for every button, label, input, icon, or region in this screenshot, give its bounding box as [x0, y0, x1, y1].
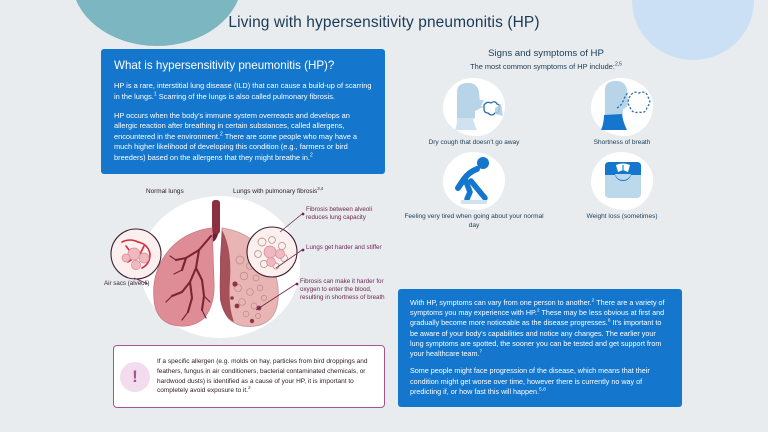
- symptoms-grid: Dry cough that doesn't go away Shortness…: [404, 78, 704, 230]
- intro-panel-heading: What is hypersensitivity pneumonitis (HP…: [114, 59, 372, 73]
- lung-label-fibrosis: Lungs with pulmonary fibrosis3,4: [233, 188, 323, 196]
- exclamation-icon: !: [120, 362, 150, 392]
- progression-paragraph-2: Some people might face progression of th…: [410, 366, 670, 397]
- lung-label-fibrosis-text: Lungs with pulmonary fibrosis: [233, 188, 317, 195]
- prog-p1a: With HP, symptoms can vary from one pers…: [410, 298, 592, 307]
- lung-diagram: Normal lungs Lungs with pulmonary fibros…: [104, 188, 394, 338]
- symptom-item: Feeling very tired when going about your…: [404, 152, 544, 231]
- intro-panel: What is hypersensitivity pneumonitis (HP…: [101, 49, 385, 174]
- intro-panel-paragraph-2: HP occurs when the body's immune system …: [114, 111, 372, 164]
- allergen-callout: ! If a specific allergen (e.g. molds on …: [113, 345, 385, 408]
- tired-person-icon: [443, 152, 505, 210]
- allergen-callout-text: If a specific allergen (e.g. molds on ha…: [157, 357, 384, 395]
- progression-panel: With HP, symptoms can vary from one pers…: [398, 289, 682, 407]
- symptoms-subheading-sup: 2,5: [615, 62, 622, 68]
- symptom-icon-backdrop: [591, 78, 653, 136]
- symptom-label: Dry cough that doesn't go away: [404, 139, 544, 148]
- prog-p2: Some people might face progression of th…: [410, 366, 650, 395]
- symptom-label: Weight loss (sometimes): [552, 213, 692, 222]
- symptom-label: Feeling very tired when going about your…: [404, 213, 544, 231]
- symptom-icon-backdrop: [443, 152, 505, 210]
- symptom-item: Dry cough that doesn't go away: [404, 78, 544, 148]
- coughing-head-icon: [443, 78, 505, 136]
- lung-annotation-oxygen: Fibrosis can make it harder for oxygen t…: [300, 278, 394, 303]
- prog-p1d-sup: 7: [480, 350, 483, 355]
- progression-paragraph-1: With HP, symptoms can vary from one pers…: [410, 298, 670, 359]
- symptom-item: Weight loss (sometimes): [552, 152, 692, 231]
- shortness-of-breath-head-icon: [591, 78, 653, 136]
- symptom-icon-backdrop: [443, 78, 505, 136]
- weight-scale-icon: [591, 152, 653, 210]
- allergen-callout-body: If a specific allergen (e.g. molds on ha…: [157, 358, 368, 394]
- symptoms-subheading-text: The most common symptoms of HP include:: [470, 62, 615, 71]
- infographic-slide: Living with hypersensitivity pneumonitis…: [0, 0, 768, 432]
- intro-p1-cont: Scarring of the lungs is also called pul…: [157, 92, 335, 101]
- lung-label-fibrosis-sup: 3,4: [317, 186, 323, 191]
- page-title: Living with hypersensitivity pneumonitis…: [0, 14, 768, 32]
- symptoms-subheading: The most common symptoms of HP include:2…: [396, 62, 696, 71]
- intro-p2-sup2: 2: [310, 152, 313, 158]
- symptom-item: Shortness of breath: [552, 78, 692, 148]
- lung-annotation-lungs-harder: Lungs get harder and stiffer: [306, 244, 382, 252]
- symptom-icon-backdrop: [591, 152, 653, 210]
- allergen-callout-sup: 2: [248, 385, 250, 390]
- symptoms-heading: Signs and symptoms of HP: [396, 48, 696, 59]
- intro-panel-paragraph-1: HP is a rare, interstitial lung disease …: [114, 81, 372, 102]
- lung-annotation-air-sacs: Air sacs (alveoli): [104, 280, 149, 288]
- lung-label-normal: Normal lungs: [146, 188, 184, 196]
- symptom-label: Shortness of breath: [552, 139, 692, 148]
- prog-p2-sup: 5,8: [539, 387, 546, 392]
- lung-annotation-fibrosis-between: Fibrosis between alveoli reduces lung ca…: [306, 206, 394, 222]
